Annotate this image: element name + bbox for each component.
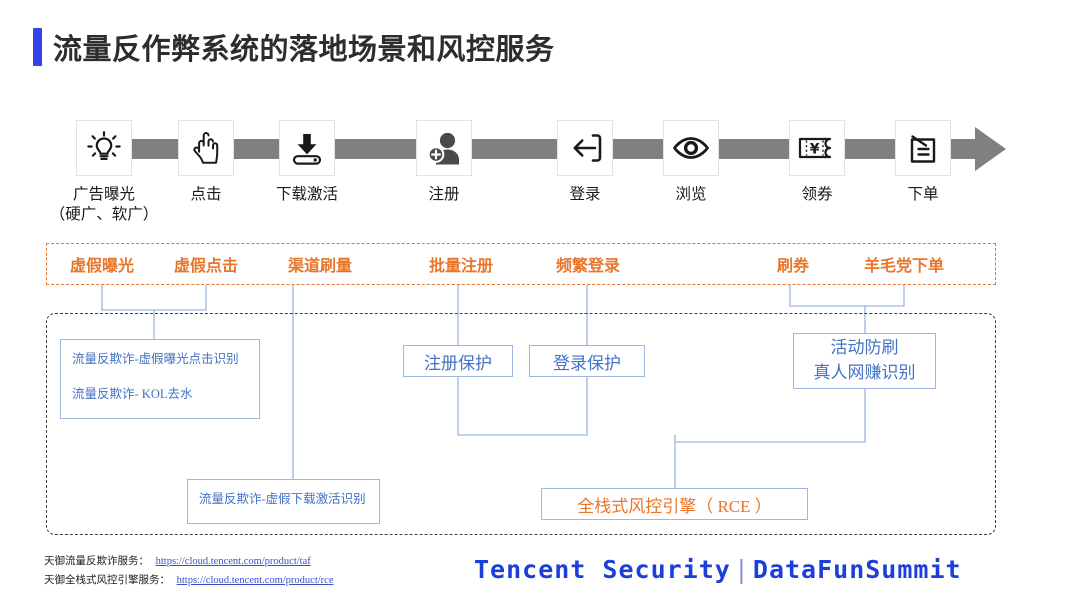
- journey-step-label: 登录: [525, 185, 645, 205]
- journey-step-label: 下载激活: [247, 185, 367, 205]
- service-box-register-protect[interactable]: 注册保护: [403, 345, 513, 377]
- slide-canvas: 流量反作弊系统的落地场景和风控服务 广告曝光 （硬广、软广）: [0, 0, 1080, 608]
- brand-tencent-security: Tencent Security: [474, 555, 731, 584]
- threat-label-bulk-register: 批量注册: [429, 252, 493, 276]
- journey-step-coupon[interactable]: ¥ 领券: [757, 120, 877, 205]
- threat-label-wool-party-order: 羊毛党下单: [864, 252, 944, 276]
- journey-step-label: 注册: [384, 185, 504, 205]
- service-box-rce-engine[interactable]: 全栈式风控引擎（ RCE ）: [541, 488, 808, 520]
- footer-link-row-rce: 天御全栈式风控引擎服务： https://cloud.tencent.com/p…: [44, 571, 334, 590]
- brand-datafunsummit: DataFunSummit: [753, 555, 962, 584]
- svg-text:¥: ¥: [810, 142, 820, 158]
- order-form-icon: [895, 120, 951, 176]
- footer-link-row-taf: 天御流量反欺诈服务： https://cloud.tencent.com/pro…: [44, 552, 334, 571]
- footer-taf-label: 天御流量反欺诈服务：: [44, 556, 149, 567]
- threat-label-fake-exposure: 虚假曝光: [70, 252, 134, 276]
- label-line-1: 广告曝光: [73, 186, 135, 203]
- journey-step-label: 下单: [863, 185, 983, 205]
- page-title: 流量反作弊系统的落地场景和风控服务: [33, 26, 555, 68]
- user-add-icon: [416, 120, 472, 176]
- service-box-download-fraud[interactable]: 流量反欺诈-虚假下载激活识别: [187, 479, 380, 524]
- service-taf-line-1: 流量反欺诈-虚假曝光点击识别: [72, 350, 248, 368]
- login-arrow-icon: [557, 120, 613, 176]
- service-taf-line-2: 流量反欺诈- KOL去水: [72, 385, 248, 403]
- hand-click-icon: [178, 120, 234, 176]
- footer-rce-label: 天御全栈式风控引擎服务：: [44, 575, 170, 586]
- journey-step-register[interactable]: 注册: [384, 120, 504, 205]
- service-box-traffic-antifraud[interactable]: 流量反欺诈-虚假曝光点击识别 流量反欺诈- KOL去水: [60, 339, 260, 419]
- journey-step-login[interactable]: 登录: [525, 120, 645, 205]
- threat-label-fake-click: 虚假点击: [174, 252, 238, 276]
- footer-links: 天御流量反欺诈服务： https://cloud.tencent.com/pro…: [44, 552, 334, 591]
- label-line-2: （硬广、软广）: [50, 206, 159, 223]
- service-download-fraud-text: 流量反欺诈-虚假下载激活识别: [199, 490, 368, 508]
- threat-label-frequent-login: 频繁登录: [556, 252, 620, 276]
- lightbulb-icon: [76, 120, 132, 176]
- journey-step-download-activate[interactable]: 下载激活: [247, 120, 367, 205]
- journey-step-label: 领券: [757, 185, 877, 205]
- title-text: 流量反作弊系统的落地场景和风控服务: [53, 26, 555, 68]
- service-box-activity-antibrush[interactable]: 活动防刷 真人网赚识别: [793, 333, 936, 389]
- eye-icon: [663, 120, 719, 176]
- brand-separator: |: [731, 555, 753, 584]
- footer-rce-link[interactable]: https://cloud.tencent.com/product/rce: [177, 575, 334, 586]
- coupon-yen-icon: ¥: [789, 120, 845, 176]
- threat-label-channel-brushing: 渠道刷量: [288, 252, 352, 276]
- service-box-login-protect[interactable]: 登录保护: [529, 345, 645, 377]
- service-activity-line-1: 活动防刷: [831, 336, 899, 361]
- service-activity-line-2: 真人网赚识别: [814, 361, 916, 386]
- title-accent-bar: [33, 28, 42, 66]
- download-install-icon: [279, 120, 335, 176]
- journey-step-browse[interactable]: 浏览: [631, 120, 751, 205]
- footer-taf-link[interactable]: https://cloud.tencent.com/product/taf: [156, 556, 311, 567]
- journey-step-label: 浏览: [631, 185, 751, 205]
- journey-step-place-order[interactable]: 下单: [863, 120, 983, 205]
- brand-lockup: Tencent Security|DataFunSummit: [474, 555, 962, 584]
- threat-label-coupon-abuse: 刷券: [777, 252, 809, 276]
